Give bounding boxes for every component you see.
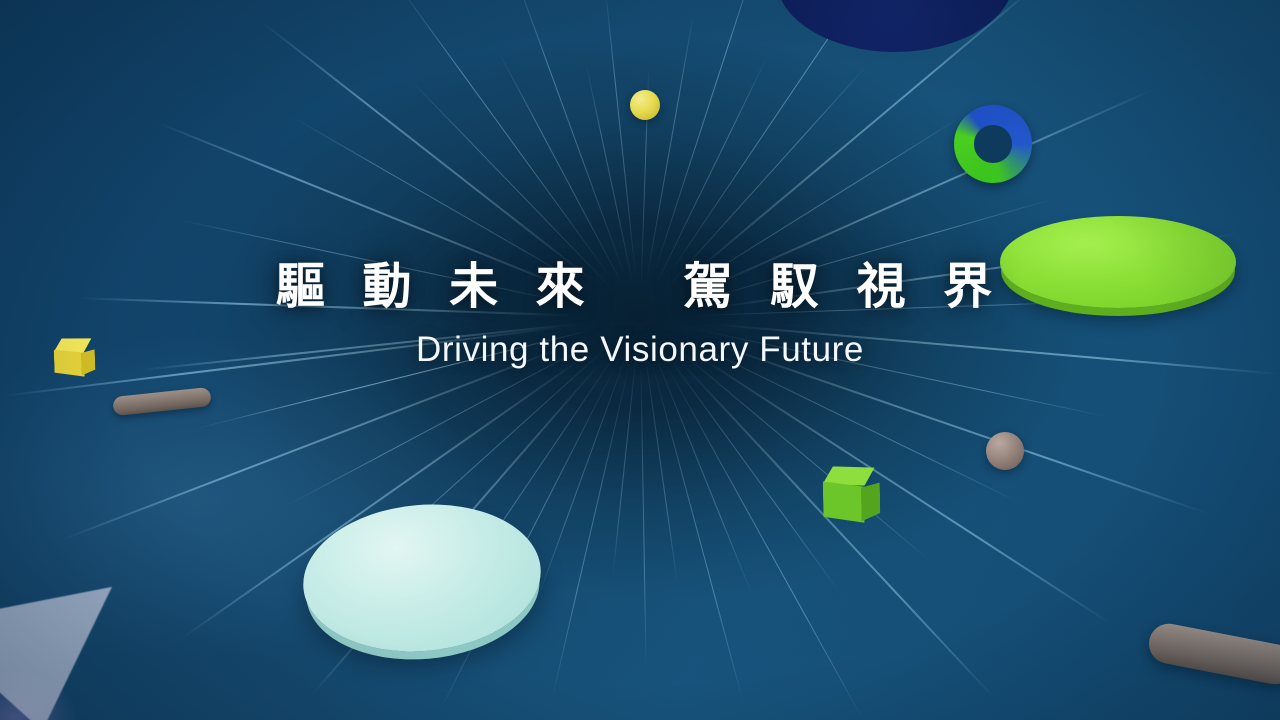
title-block: 驅 動 未 來 駕 馭 視 界 Driving the Visionary Fu… (0, 262, 1280, 370)
title-chinese: 驅 動 未 來 駕 馭 視 界 (0, 262, 1280, 314)
video-frame: 驅 動 未 來 駕 馭 視 界 Driving the Visionary Fu… (0, 0, 1280, 720)
title-english: Driving the Visionary Future (0, 330, 1280, 370)
